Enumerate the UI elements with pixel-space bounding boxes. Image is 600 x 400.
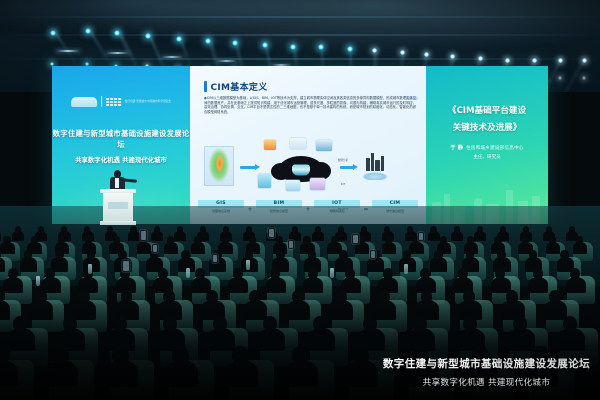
- arrow-right-icon-2: [340, 166, 354, 169]
- city-model-icon: [358, 152, 392, 180]
- logo-text: 数字住建 智慧城市 中国城市科学研究会: [125, 100, 171, 103]
- speaker-credit: 于 静住房和城乡建设部信息中心 主任、研究员: [426, 144, 548, 160]
- logo-grid-icon: [106, 98, 121, 106]
- right-icon-analysis-label: 规划分析: [338, 159, 348, 162]
- terrain-map-icon: [204, 146, 234, 186]
- presentation-title-line1: 《CIM基础平台建设: [426, 104, 548, 116]
- truss-bar-3: [0, 58, 600, 60]
- watermark: 数字住建与新型城市基础设施建设发展论坛 共享数字化机遇 共建现代化城市: [383, 356, 590, 388]
- arrow-right-icon-1: [240, 166, 256, 169]
- speaker-org: 住房和城乡建设部信息中心: [466, 146, 524, 151]
- presentation-title-line2: 关键技术及进展》: [426, 121, 548, 133]
- slide-title-tick: [204, 81, 207, 92]
- orbit-icon-transport: [286, 180, 300, 191]
- cim-diagram: 规划分析 IOT 城市管理: [198, 140, 418, 198]
- speaker-role: 主任、研究员: [426, 154, 548, 160]
- orbit-icon-sensor: [316, 140, 332, 151]
- orbit-icon-building: [258, 174, 271, 188]
- left-panel-title-line2: 共享数字化机遇 共建现代化城市: [52, 155, 190, 164]
- orbit-icon-district: [310, 178, 325, 190]
- cloud-core-icon: [292, 164, 310, 175]
- left-panel-title-line1: 数字住建与新型城市基础设施建设发展论坛: [52, 128, 190, 150]
- orbit-icon-energy: [264, 140, 276, 150]
- slide-body-text: ●CIM以三维数据模型为基础，以GIS、BIM、IOT等技术为支撑，建立城市物理…: [204, 96, 416, 114]
- podium: [100, 189, 136, 225]
- watermark-line1: 数字住建与新型城市基础设施建设发展论坛: [383, 356, 590, 371]
- right-icon-iot-label: IOT: [341, 183, 345, 186]
- presentation-title: 《CIM基础平台建设 关键技术及进展》: [426, 104, 548, 133]
- forum-logo: 数字住建 智慧城市 中国城市科学研究会: [71, 96, 171, 107]
- speaker-line1: 于 静住房和城乡建设部信息中心: [426, 144, 548, 151]
- right-icon-iot: IOT: [334, 170, 352, 189]
- right-icon-analysis: 规划分析: [334, 146, 352, 165]
- led-center-slide: CIM基本定义 ●CIM以三维数据模型为基础，以GIS、BIM、IOT等技术为支…: [190, 66, 426, 224]
- logo-mark-icon: [71, 97, 97, 107]
- podium-plaque: [108, 202, 128, 209]
- left-panel-title: 数字住建与新型城市基础设施建设发展论坛 共享数字化机遇 共建现代化城市: [52, 128, 190, 164]
- orbit-icon-document: [290, 138, 306, 149]
- conference-stage-photo: 数字住建 智慧城市 中国城市科学研究会 数字住建与新型城市基础设施建设发展论坛 …: [0, 0, 600, 400]
- slide-title-text: CIM基本定义: [211, 80, 268, 93]
- slide-title: CIM基本定义: [204, 80, 268, 93]
- speaker-shirt: [115, 178, 119, 188]
- slide-body-paragraph: CIM以三维数据模型为基础，以GIS、BIM、IOT等技术为支撑，建立城市物理实…: [204, 96, 416, 114]
- truss-bar-1: [0, 16, 600, 18]
- truss-bar-2: [0, 34, 600, 36]
- watermark-line2: 共享数字化机遇 共建现代化城市: [383, 376, 590, 388]
- led-right-panel: 《CIM基础平台建设 关键技术及进展》 于 静住房和城乡建设部信息中心 主任、研…: [426, 66, 548, 224]
- logo-divider: [101, 96, 102, 107]
- speaker-name: 于 静: [450, 145, 463, 151]
